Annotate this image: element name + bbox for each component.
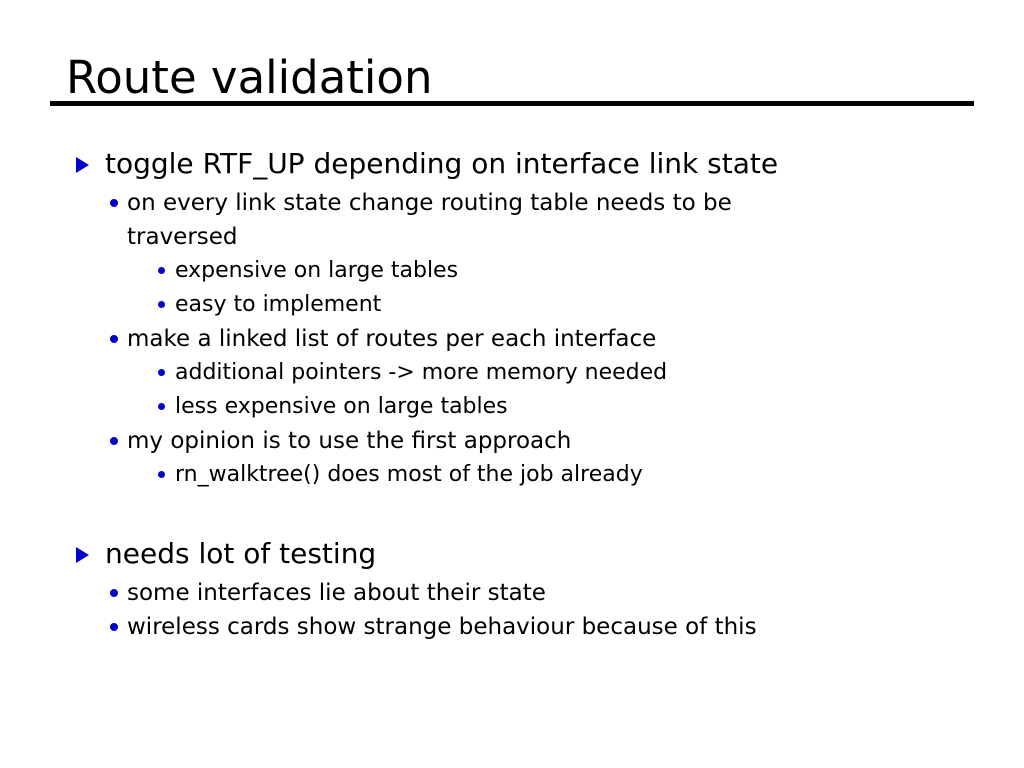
page-title: Route validation	[66, 52, 432, 104]
bullet-level2-label: some interfaces lie about their state	[127, 576, 1024, 610]
disc-icon	[158, 471, 165, 478]
bullet-level3-label: additional pointers -> more memory neede…	[175, 356, 1024, 390]
disc-icon	[110, 199, 118, 207]
group-spacer	[0, 492, 1024, 534]
bullet-level3-label: easy to implement	[175, 288, 1024, 322]
bullet-level2-label: wireless cards show strange behaviour be…	[127, 610, 1024, 644]
disc-icon	[158, 267, 165, 274]
disc-icon	[158, 301, 165, 308]
bullet-level2-label: make a linked list of routes per each in…	[127, 322, 1024, 356]
bullet-level2: some interfaces lie about their state	[0, 576, 1024, 610]
bullet-level1: needs lot of testing	[0, 534, 1024, 574]
bullet-level2: my opinion is to use the first approach	[0, 424, 1024, 458]
disc-icon	[158, 369, 165, 376]
disc-icon	[110, 589, 118, 597]
bullet-level1-label: toggle RTF_UP depending on interface lin…	[105, 144, 1024, 184]
bullet-level3: additional pointers -> more memory neede…	[0, 356, 1024, 390]
bullet-level1: toggle RTF_UP depending on interface lin…	[0, 144, 1024, 184]
bullet-level3-label: less expensive on large tables	[175, 390, 1024, 424]
disc-icon	[110, 623, 118, 631]
bullet-level3: easy to implement	[0, 288, 1024, 322]
bullet-level2-label: on every link state change routing table…	[127, 186, 827, 254]
bullet-level3: less expensive on large tables	[0, 390, 1024, 424]
bullet-level3-label: expensive on large tables	[175, 254, 1024, 288]
bullet-level3: expensive on large tables	[0, 254, 1024, 288]
triangle-right-icon	[76, 157, 89, 173]
title-underline-rule	[50, 101, 974, 106]
bullet-level1-label: needs lot of testing	[105, 534, 1024, 574]
bullet-level2: on every link state change routing table…	[0, 186, 1024, 254]
disc-icon	[158, 403, 165, 410]
disc-icon	[110, 335, 118, 343]
bullet-level3: rn_walktree() does most of the job alrea…	[0, 458, 1024, 492]
bullet-level3-label: rn_walktree() does most of the job alrea…	[175, 458, 1024, 492]
bullet-level2: wireless cards show strange behaviour be…	[0, 610, 1024, 644]
slide-body: toggle RTF_UP depending on interface lin…	[0, 144, 1024, 644]
bullet-level2: make a linked list of routes per each in…	[0, 322, 1024, 356]
disc-icon	[110, 437, 118, 445]
bullet-level2-label: my opinion is to use the first approach	[127, 424, 1024, 458]
slide: Route validation toggle RTF_UP depending…	[0, 0, 1024, 768]
triangle-right-icon	[76, 547, 89, 563]
